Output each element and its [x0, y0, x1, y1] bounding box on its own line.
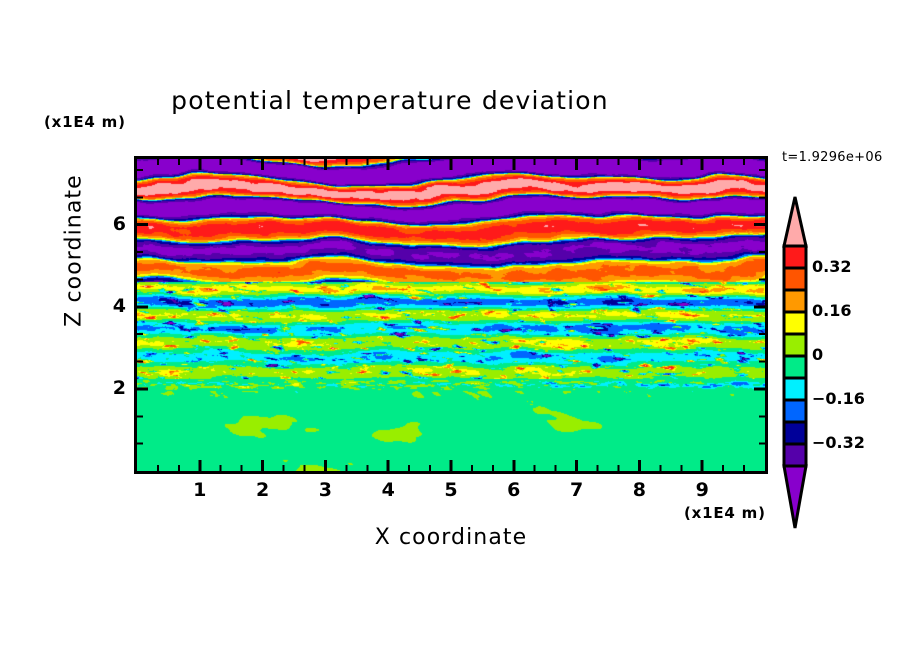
contour-plot-figure: potential temperature deviation (x1E4 m)…: [0, 0, 904, 654]
y-tick-label: 2: [92, 377, 126, 399]
y-tick-label: 6: [92, 213, 126, 235]
colorbar-swatches: [778, 196, 812, 528]
y-axis-title: Z coordinate: [62, 141, 87, 361]
x-tick-label: 2: [243, 479, 283, 501]
x-axis-title: X coordinate: [134, 525, 768, 550]
colorbar[interactable]: [778, 196, 812, 528]
colorbar-tick-label: −0.32: [812, 433, 865, 452]
x-tick-label: 6: [494, 479, 534, 501]
colorbar-tick-label: 0: [812, 345, 823, 364]
x-tick-label: 8: [619, 479, 659, 501]
x-tick-label: 3: [305, 479, 345, 501]
colorbar-tick-label: −0.16: [812, 389, 865, 408]
x-tick-label: 1: [180, 479, 220, 501]
colorbar-tick-label: 0.16: [812, 301, 851, 320]
x-axis-units-label: (x1E4 m): [684, 504, 766, 522]
x-tick-label: 7: [557, 479, 597, 501]
axis-ticks: [0, 0, 904, 654]
x-tick-label: 5: [431, 479, 471, 501]
x-tick-label: 9: [682, 479, 722, 501]
colorbar-tick-label: 0.32: [812, 257, 851, 276]
y-tick-label: 4: [92, 295, 126, 317]
x-tick-label: 4: [368, 479, 408, 501]
